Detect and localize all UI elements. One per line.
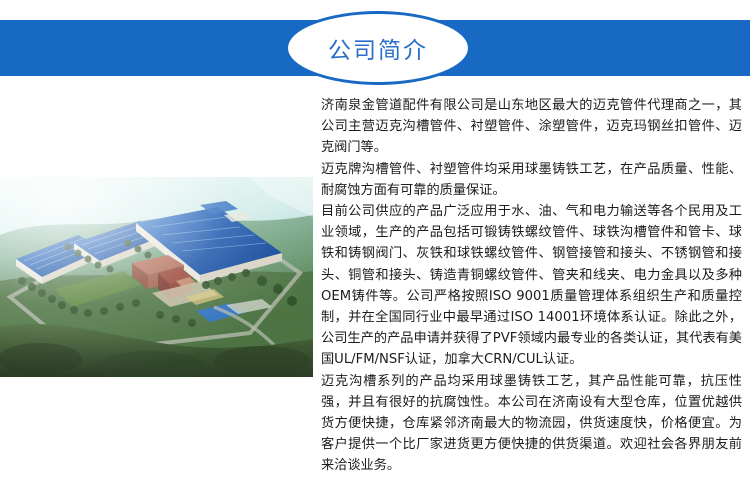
factory-illustration: [0, 177, 313, 377]
company-profile-text: 济南泉金管道配件有限公司是山东地区最大的迈克管件代理商之一，其公司主营迈克沟槽管…: [321, 95, 742, 477]
page-title: 公司简介: [328, 31, 428, 65]
factory-aerial-photo: [0, 177, 313, 377]
about-paragraph-4: 迈克沟槽系列的产品均采用球墨铸铁工艺，其产品性能可靠，抗压性强，并且有很好的抗腐…: [321, 371, 742, 477]
about-paragraph-3: 目前公司供应的产品广泛应用于水、油、气和电力输送等各个民用及工业领域，生产的产品…: [321, 201, 742, 371]
title-ellipse-badge: 公司简介: [285, 11, 471, 85]
page-header: 公司简介: [0, 0, 750, 96]
about-paragraph-2: 迈克牌沟槽管件、衬塑管件均采用球墨铸铁工艺，在产品质量、性能、耐腐蚀方面有可靠的…: [321, 159, 742, 201]
about-paragraph-1: 济南泉金管道配件有限公司是山东地区最大的迈克管件代理商之一，其公司主营迈克沟槽管…: [321, 95, 742, 159]
